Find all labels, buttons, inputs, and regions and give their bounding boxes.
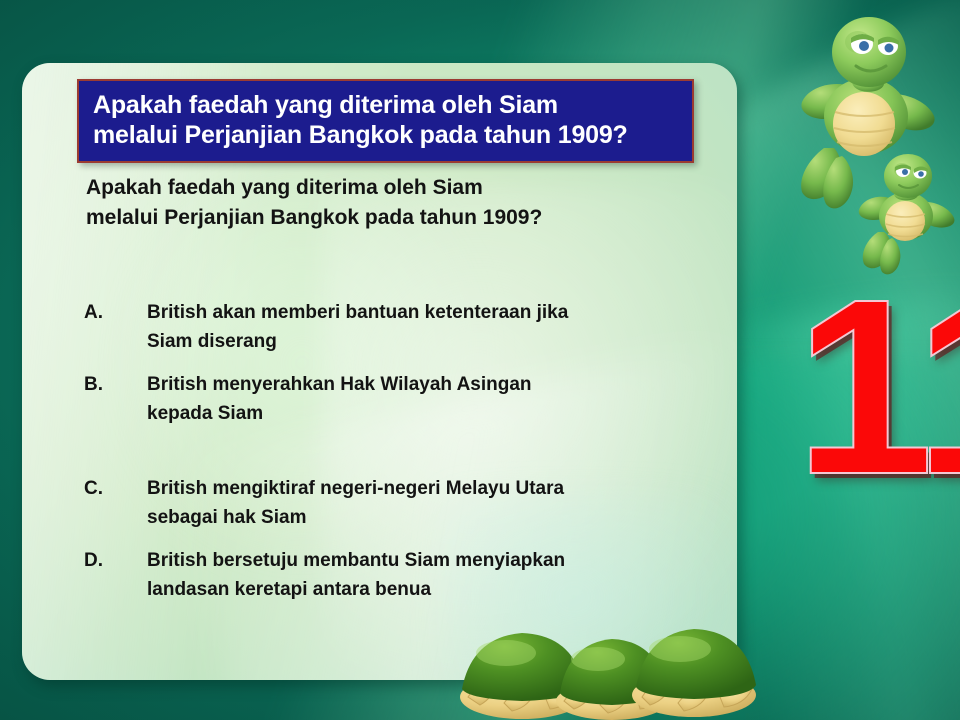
content-panel: Apakah faedah yang diterima oleh Siam me…	[22, 63, 737, 680]
question-text: Apakah faedah yang diterima oleh Siam me…	[86, 173, 706, 233]
turtle-swimming-small-icon	[856, 150, 960, 280]
option-c[interactable]: C. British mengiktiraf negeri-negeri Mel…	[84, 474, 729, 532]
title-banner: Apakah faedah yang diterima oleh Siam me…	[77, 79, 694, 163]
option-d-letter: D.	[84, 546, 147, 575]
title-line-1: Apakah faedah yang diterima oleh Siam	[93, 90, 678, 120]
option-a[interactable]: A. British akan memberi bantuan ketenter…	[84, 298, 729, 356]
turtle-shells-group-icon	[450, 615, 760, 720]
option-b-line-1: British menyerahkan Hak Wilayah Asingan	[147, 370, 729, 399]
option-b-line-2: kepada Siam	[147, 399, 729, 428]
slide-number: 11	[795, 262, 955, 512]
option-c-line-2: sebagai hak Siam	[147, 503, 729, 532]
option-b[interactable]: B. British menyerahkan Hak Wilayah Asing…	[84, 370, 729, 428]
option-d-line-1: British bersetuju membantu Siam menyiapk…	[147, 546, 729, 575]
option-a-text: British akan memberi bantuan ketenteraan…	[147, 298, 729, 356]
option-a-line-1: British akan memberi bantuan ketenteraan…	[147, 298, 729, 327]
question-line-2: melalui Perjanjian Bangkok pada tahun 19…	[86, 203, 706, 233]
option-a-line-2: Siam diserang	[147, 327, 729, 356]
option-a-letter: A.	[84, 298, 147, 327]
option-c-text: British mengiktiraf negeri-negeri Melayu…	[147, 474, 729, 532]
quiz-slide: Apakah faedah yang diterima oleh Siam me…	[0, 0, 960, 720]
option-c-line-1: British mengiktiraf negeri-negeri Melayu…	[147, 474, 729, 503]
option-b-letter: B.	[84, 370, 147, 399]
option-d-line-2: landasan keretapi antara benua	[147, 575, 729, 604]
option-b-text: British menyerahkan Hak Wilayah Asingan …	[147, 370, 729, 428]
answer-options-list: A. British akan memberi bantuan ketenter…	[84, 298, 729, 618]
option-c-letter: C.	[84, 474, 147, 503]
title-line-2: melalui Perjanjian Bangkok pada tahun 19…	[93, 120, 678, 150]
option-d-text: British bersetuju membantu Siam menyiapk…	[147, 546, 729, 604]
option-d[interactable]: D. British bersetuju membantu Siam menyi…	[84, 546, 729, 604]
question-line-1: Apakah faedah yang diterima oleh Siam	[86, 173, 706, 203]
